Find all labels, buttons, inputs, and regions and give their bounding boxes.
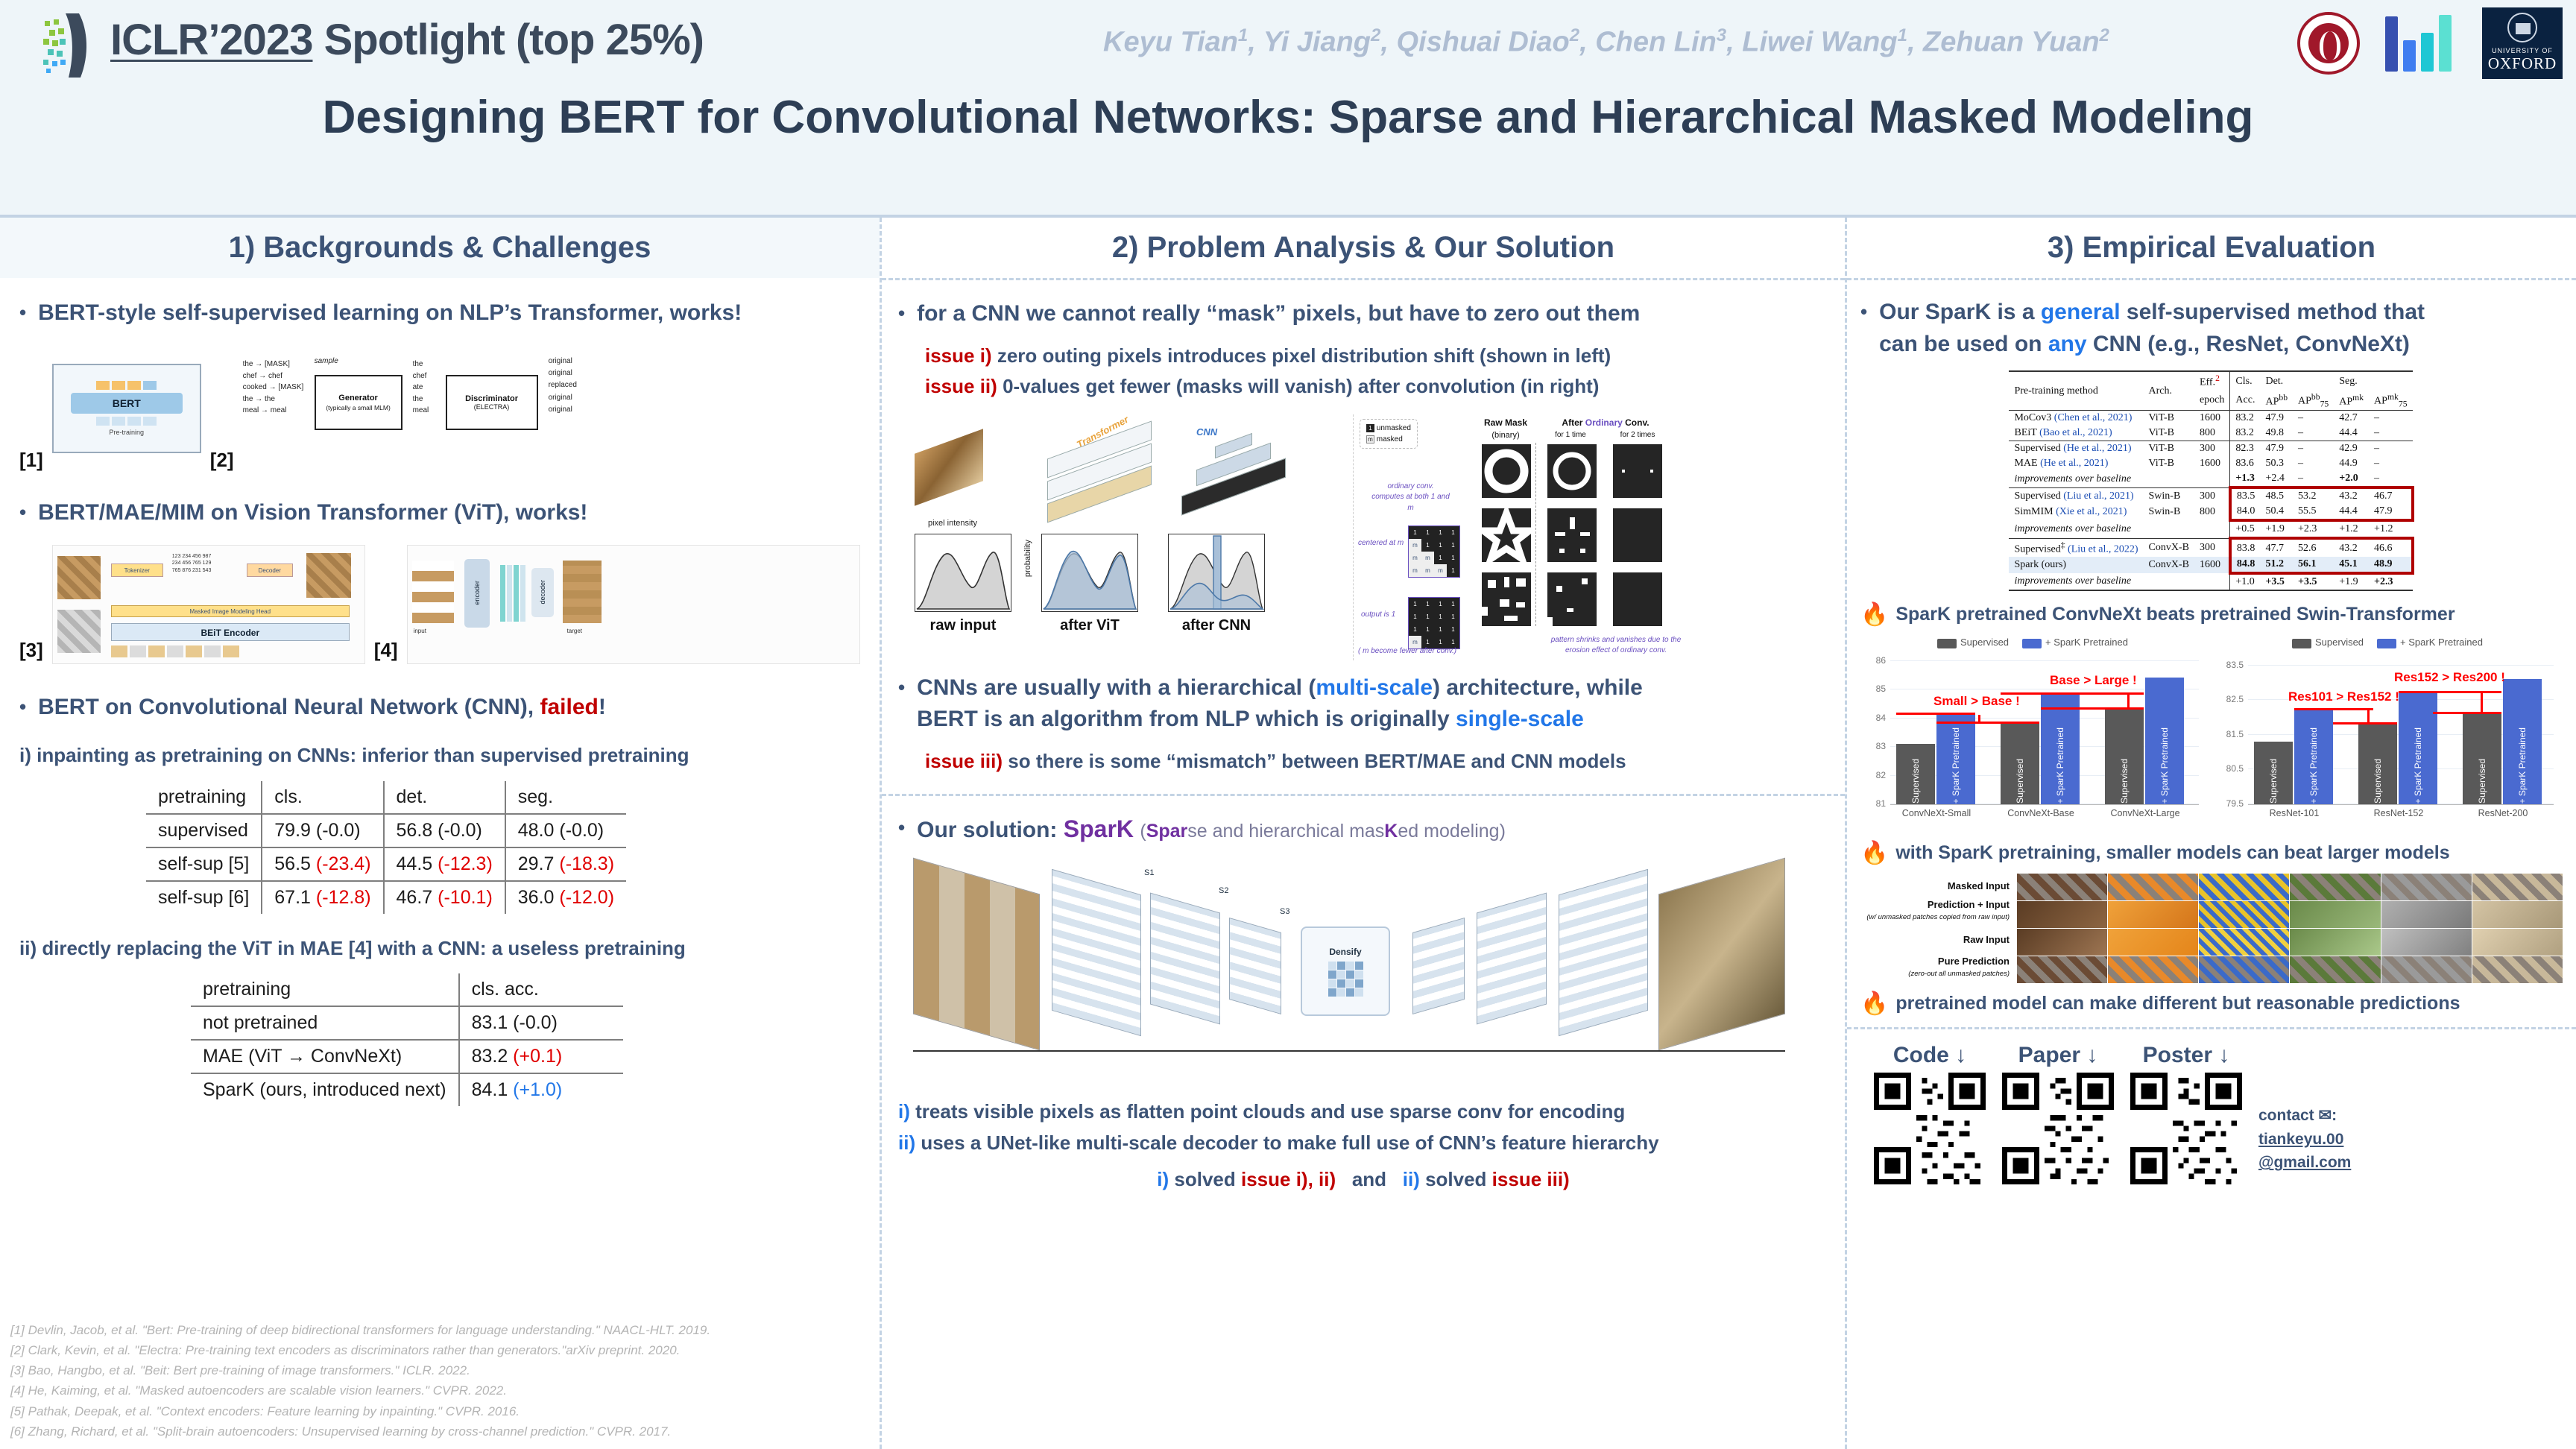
bullet-hierarchical: • CNNs are usually with a hierarchical (… (898, 672, 1828, 736)
cell-epoch: 300 (2194, 441, 2230, 457)
mask-raw-star (1482, 508, 1531, 562)
raw-image-thumb (915, 429, 983, 505)
bullet-cannot-mask-text: for a CNN we cannot really “mask” pixels… (917, 298, 1640, 330)
note-output-is: output is 1 (1361, 610, 1395, 620)
conclusion-ii-text: uses a UNet-like multi-scale decoder to … (921, 1131, 1658, 1154)
th-pretraining: pretraining (146, 781, 262, 814)
cell-cls: +1.0 (2230, 573, 2261, 590)
legend-item-supervised: Supervised (1937, 637, 2009, 648)
poster-root: ICLR’2023 Spotlight (top 25%) Keyu Tian1… (0, 0, 2576, 1449)
bar-convnext-large-supervised: Supervised (2105, 710, 2144, 804)
cell-arch: Swin-B (2144, 504, 2194, 520)
cell-apmk75: 47.9 (2369, 504, 2412, 520)
affiliation-logos: UNIVERSITY OF OXFORD (2297, 4, 2563, 82)
conclusion-ii: ii) uses a UNet-like multi-scale decoder… (898, 1128, 1828, 1159)
table-row: MAE (He et al., 2021) ViT-B 1600 83.6 50… (2009, 456, 2412, 471)
bullet-dot-icon: • (19, 692, 26, 724)
cell-apbb75: – (2293, 441, 2334, 457)
bar-convnext-base-spark: + SparK Pretrained (2041, 695, 2080, 804)
cell-method: SimMIM (Xie et al., 2021) (2009, 504, 2143, 520)
oxford-logo-small-text: UNIVERSITY OF (2492, 47, 2553, 54)
row-label-masked-input: Masked Input (1860, 874, 2010, 899)
bullet-spark-general-text: Our SparK is a general self-supervised m… (1879, 297, 2425, 360)
cell-apbb: 47.7 (2260, 538, 2293, 557)
qr-poster-block: Poster ↓ (2130, 1043, 2242, 1184)
th-apmk: APmk (2334, 391, 2369, 411)
th-apbb: APbb (2260, 391, 2293, 411)
decoder-stage-1 (1559, 869, 1648, 1036)
cell-apbb75: 55.5 (2293, 504, 2334, 520)
cell-apbb75: – (2293, 411, 2334, 426)
qr-paper-block: Paper ↓ (2002, 1043, 2114, 1184)
contact-block: contact ✉: tiankeyu.00 @gmail.com (2258, 1043, 2351, 1175)
university-of-oxford-logo-icon: UNIVERSITY OF OXFORD (2482, 7, 2563, 79)
figure-ref-3: [3] (19, 639, 43, 669)
cell-seg: 36.0 (-12.0) (505, 881, 626, 914)
oxford-logo-large-text: OXFORD (2488, 54, 2557, 73)
cell-seg: 29.7 (-18.3) (505, 847, 626, 881)
bullet-dot-icon: • (19, 297, 26, 329)
cell-apbb75: – (2293, 471, 2334, 487)
cell-epoch: 1600 (2194, 411, 2230, 426)
column-backgrounds: 1) Backgrounds & Challenges • BERT-style… (0, 218, 880, 1449)
generator-sub: (typically a small MLM) (326, 404, 390, 412)
cell-cls: 56.5 (-23.4) (262, 847, 383, 881)
mae-input-label: input (414, 628, 426, 634)
cell-cls: +1.3 (2230, 471, 2261, 487)
cell-apbb: 50.4 (2260, 504, 2293, 520)
bar-resnet200-supervised: Supervised (2463, 714, 2501, 804)
bar-convnext-small-spark: + SparK Pretrained (1936, 715, 1975, 804)
bullet-dot-icon: • (898, 812, 905, 847)
finding-2: 🔥 with SparK pretraining, smaller models… (1860, 840, 2563, 866)
bullet-bert-vit: • BERT/MAE/MIM on Vision Transformer (Vi… (19, 497, 860, 529)
solved-ii-issues: issue iii) (1492, 1168, 1570, 1190)
reference-item: [2] Clark, Kevin, et al. "Electra: Pre-t… (10, 1340, 868, 1360)
densify-block: Densify (1301, 926, 1390, 1016)
cell-method: Supervised (He et al., 2021) (2009, 441, 2143, 457)
chart-2-xtick-3: ResNet-200 (2451, 808, 2555, 818)
th-cls: Cls. (2230, 371, 2261, 391)
reference-item: [5] Pathak, Deepak, et al. "Context enco… (10, 1401, 868, 1421)
mae-encoder-label: encoder (473, 581, 481, 605)
th-epoch: epoch (2194, 391, 2230, 411)
bar-resnet101-supervised: Supervised (2254, 742, 2293, 804)
solved-i-issues: issue i), ii) (1241, 1168, 1336, 1190)
cell-apbb75: +3.5 (2293, 573, 2334, 590)
mae-target-label: target (567, 628, 582, 634)
figure-spark-architecture: S1 S2 S3 Densify (898, 853, 1828, 1092)
th-acc: Acc. (2230, 391, 2261, 411)
solved-summary: i) solved issue i), ii) and ii) solved i… (898, 1164, 1828, 1196)
cell-apmk: +1.9 (2334, 573, 2369, 590)
mask-conv1-ring (1547, 444, 1597, 498)
mim-head-label: Masked Image Modeling Head (111, 605, 350, 617)
cell-seg: 48.0 (-0.0) (505, 814, 626, 847)
bullet-bert-cnn-failed: • BERT on Convolutional Neural Network (… (19, 692, 860, 724)
contact-label-row: contact ✉: (2258, 1104, 2351, 1128)
chart-1-annotation-1: Small > Base ! (1933, 694, 2020, 709)
subpoint-ii: ii) directly replacing the ViT in MAE [4… (19, 933, 860, 965)
table-inpainting-results: pretraining cls. det. seg. supervised 79… (146, 781, 626, 914)
chart-1-xtick-3: ConvNeXt-Large (2093, 808, 2197, 818)
sample-label: sample (315, 357, 338, 365)
th-seg: Seg. (2334, 371, 2412, 391)
fire-icon: 🔥 (1860, 991, 1888, 1017)
encoder-stage-2 (1150, 893, 1220, 1025)
th-det: det. (384, 781, 505, 814)
cell-method: improvements over baseline (2009, 471, 2143, 487)
table-row: SimMIM (Xie et al., 2021) Swin-B 800 84.… (2009, 504, 2412, 520)
cell-apmk75: +1.2 (2369, 520, 2412, 538)
footnote-erosion: pattern shrinks and vanishes due to the … (1541, 635, 1690, 656)
cell-apmk75: 46.7 (2369, 487, 2412, 504)
table-row: SparK (ours, introduced next) 84.1 (+1.0… (191, 1073, 623, 1106)
row-label-raw-input: Raw Input (1860, 924, 2010, 956)
bullet-bert-vit-text: BERT/MAE/MIM on Vision Transformer (ViT)… (38, 497, 587, 529)
figure-beit-mae: [3] Tokenizer 123 234 456 987234 456 765… (19, 539, 860, 669)
table-row: improvements over baseline +1.3 +2.4 – +… (2009, 471, 2412, 487)
qr-code-code-icon[interactable] (1874, 1073, 1986, 1184)
mask-conv1-random (1547, 572, 1597, 626)
cell-cls: 82.3 (2230, 441, 2261, 457)
th-method: Pre-training method (2009, 371, 2143, 411)
stage-label-s2: S2 (1219, 886, 1228, 895)
section-2-heading: 2) Problem Analysis & Our Solution (882, 218, 1845, 278)
cell-cls: 83.2 (2230, 426, 2261, 441)
density-plot-vit (1041, 534, 1138, 612)
cell-det: 44.5 (-12.3) (384, 847, 505, 881)
electra-diagram: the → [MASK]chef → chefcooked → [MASK]th… (243, 353, 860, 464)
reference-list: [1] Devlin, Jacob, et al. "Bert: Pre-tra… (10, 1320, 868, 1442)
cell-epoch: 1600 (2194, 557, 2230, 573)
column-analysis: 2) Problem Analysis & Our Solution • for… (880, 218, 1845, 1449)
axis-label-probability: probability (1023, 540, 1032, 577)
qr-label-paper: Paper ↓ (2002, 1043, 2114, 1068)
chart-1-legend: Supervised + SparK Pretrained (1860, 637, 2205, 648)
issue-ii-line: issue ii) 0-values get fewer (masks will… (898, 371, 1828, 402)
cell-apmk75: 46.6 (2369, 538, 2412, 557)
table-row: supervised 79.9 (-0.0) 56.8 (-0.0) 48.0 … (146, 814, 626, 847)
mask-conv2-ring (1613, 444, 1662, 498)
figure-ref-4: [4] (374, 639, 398, 669)
encoder-stage-1 (1052, 869, 1141, 1036)
cell-cls: 84.0 (2230, 504, 2261, 520)
cell-apbb: 50.3 (2260, 456, 2293, 471)
venue-name: ICLR’2023 (110, 16, 312, 64)
section-3-heading: 3) Empirical Evaluation (1847, 218, 2576, 278)
fire-icon: 🔥 (1860, 840, 1888, 866)
chart-2-annotation-2: Res152 > Res200 ! (2394, 670, 2505, 685)
mask-legend: 1 unmasked m masked (1360, 419, 1418, 449)
note-centered-at: centered at m (1358, 538, 1404, 549)
finding-3-text: pretrained model can make different but … (1895, 993, 2460, 1014)
cell-method: MAE (ViT → ConvNeXt) (191, 1040, 459, 1073)
th-apbb75: APbb75 (2293, 391, 2334, 411)
table-row: BEiT (Bao et al., 2021) ViT-B 800 83.2 4… (2009, 426, 2412, 441)
cell-apbb: 49.8 (2260, 426, 2293, 441)
cell-arch: ConvX-B (2144, 538, 2194, 557)
stage-label-s3: S3 (1280, 907, 1289, 916)
bar-convnext-small-supervised: Supervised (1896, 744, 1935, 804)
peking-university-logo-icon (2297, 12, 2360, 75)
cell-cls: 83.8 (2230, 538, 2261, 557)
finding-1-text: SparK pretrained ConvNeXt beats pretrain… (1895, 604, 2455, 625)
figure-bert-electra: [1] BERT Pre-training [2] (19, 340, 860, 478)
beit-diagram: Tokenizer 123 234 456 987234 456 765 129… (52, 545, 365, 664)
cell-arch: Swin-B (2144, 487, 2194, 504)
bullet-cannot-mask: • for a CNN we cannot really “mask” pixe… (898, 298, 1828, 330)
chart-resnet-accuracy: Supervised + SparK Pretrained 83.5 82.5 … (2215, 637, 2560, 834)
chart-1-xtick-2: ConvNeXt-Base (1989, 808, 2093, 818)
cell-method: supervised (146, 814, 262, 847)
table-row: improvements over baseline +0.5 +1.9 +2.… (2009, 520, 2412, 538)
cell-apbb75: 52.6 (2293, 538, 2334, 557)
mask-conv2-random (1613, 572, 1662, 626)
bullet-bert-cnn-failed-text: BERT on Convolutional Neural Network (CN… (38, 692, 606, 724)
conclusion-i: i) treats visible pixels as flatten poin… (898, 1096, 1828, 1128)
cell-arch: ViT-B (2144, 441, 2194, 457)
bullet-hierarchical-text: CNNs are usually with a hierarchical (mu… (917, 672, 1643, 736)
cnn-label: CNN (1196, 426, 1217, 438)
reference-item: [6] Zhang, Richard, et al. "Split-brain … (10, 1421, 868, 1442)
cell-apmk75: – (2369, 471, 2412, 487)
bert-diagram-caption: Pre-training (110, 429, 145, 436)
caption-raw-input: raw input (915, 617, 1011, 634)
qr-code-poster-icon[interactable] (2130, 1073, 2242, 1184)
column-evaluation: 3) Empirical Evaluation • Our SparK is a… (1845, 218, 2576, 1449)
cell-cls: 84.8 (2230, 557, 2261, 573)
legend-item-spark: + SparK Pretrained (2377, 637, 2483, 648)
cell-apbb75: 53.2 (2293, 487, 2334, 504)
cell-arch: ViT-B (2144, 456, 2194, 471)
figure-distribution-and-erosion: Transformer CNN pixel intensity probabil… (898, 414, 1828, 660)
iclr-logo-icon (36, 10, 101, 79)
prediction-row-labels: Masked Input Prediction + Input (w/ unma… (1860, 874, 2010, 983)
issue-iii-tag: issue iii) (925, 750, 1003, 772)
col-title-after-conv: After Ordinary Conv. (1546, 417, 1665, 428)
cell-method: SparK (ours, introduced next) (191, 1073, 459, 1106)
table-header-row: pretraining cls. acc. (191, 973, 623, 1006)
paper-title: Designing BERT for Convolutional Network… (0, 91, 2576, 144)
cell-method: MoCov3 (Chen et al., 2021) (2009, 411, 2143, 426)
conclusion-i-tag: i) (898, 1100, 910, 1123)
th-pretraining: pretraining (191, 973, 459, 1006)
fire-icon: 🔥 (1860, 602, 1888, 628)
issue-i-line: issue i) zero outing pixels introduces p… (898, 341, 1828, 372)
figure-ref-2: [2] (210, 449, 234, 478)
cell-apbb: +2.4 (2260, 471, 2293, 487)
issue-i-text: zero outing pixels introduces pixel dist… (997, 344, 1611, 367)
cell-cls: +0.5 (2230, 520, 2261, 538)
table-main-results: Pre-training method Arch. Eff.2 Cls. Det… (2009, 370, 2414, 591)
cell-method: Spark (ours) (2009, 557, 2143, 573)
cell-apmk: 43.2 (2334, 538, 2369, 557)
cell-epoch: 300 (2194, 538, 2230, 557)
mask-conv1-star (1547, 508, 1597, 562)
generator-label: Generator (338, 393, 378, 403)
figure-pixel-distribution: Transformer CNN pixel intensity probabil… (898, 414, 1345, 660)
solved-ii-tag: ii) (1403, 1168, 1420, 1190)
col-title-raw-mask: Raw Mask (1482, 417, 1529, 428)
issue-iii-text: so there is some “mismatch” between BERT… (1008, 750, 1626, 772)
bert-pretraining-diagram: BERT Pre-training (52, 364, 201, 453)
prediction-image-grid (2017, 874, 2563, 983)
bytedance-logo-icon (2385, 15, 2457, 72)
poster-header: ICLR’2023 Spotlight (top 25%) Keyu Tian1… (0, 0, 2576, 218)
legend-item-spark: + SparK Pretrained (2022, 637, 2128, 648)
cell-method: Supervised‡ (Liu et al., 2022) (2009, 538, 2143, 557)
links-section: Code ↓ (1847, 1029, 2576, 1184)
cell-apmk75: +2.3 (2369, 573, 2412, 590)
footnote-masks-fewer: ( m become fewer after conv.) (1358, 647, 1456, 655)
bullet-dot-icon: • (1860, 297, 1867, 360)
cell-apbb75: – (2293, 456, 2334, 471)
finding-2-text: with SparK pretraining, smaller models c… (1895, 842, 2449, 864)
reconstructed-output (1658, 858, 1785, 1051)
cell-apbb75: – (2293, 426, 2334, 441)
stage-label-s1: S1 (1144, 868, 1154, 877)
cell-apmk75: – (2369, 411, 2412, 426)
discriminator-sub: (ELECTRA) (474, 403, 510, 411)
reference-item: [1] Devlin, Jacob, et al. "Bert: Pre-tra… (10, 1320, 868, 1340)
charts-row: Supervised + SparK Pretrained 86 85 84 8… (1860, 637, 2563, 834)
cell-apbb75: 56.1 (2293, 557, 2334, 573)
chart-2-legend: Supervised + SparK Pretrained (2215, 637, 2560, 648)
cell-apmk: 45.1 (2334, 557, 2369, 573)
cell-epoch: 300 (2194, 487, 2230, 504)
legend-masked: masked (1377, 435, 1403, 443)
cell-cls: 83.6 (2230, 456, 2261, 471)
table-row: not pretrained 83.1 (-0.0) (191, 1006, 623, 1040)
mask-raw-ring (1482, 444, 1531, 498)
density-plot-cnn (1168, 534, 1265, 612)
qr-code-block: Code ↓ (1874, 1043, 1986, 1184)
cell-apbb: 51.2 (2260, 557, 2293, 573)
cell-method: improvements over baseline (2009, 573, 2143, 590)
chart-1-plot: 86 85 84 83 82 81 Supervised + SparK Pre… (1890, 656, 2199, 805)
col-sub-binary: (binary) (1482, 431, 1529, 440)
figure-ref-1: [1] (19, 449, 43, 478)
table-row: MAE (ViT → ConvNeXt) 83.2 (+0.1) (191, 1040, 623, 1073)
bar-resnet152-supervised: Supervised (2358, 724, 2397, 804)
cell-method: MAE (He et al., 2021) (2009, 456, 2143, 471)
th-seg: seg. (505, 781, 626, 814)
contact-email[interactable]: tiankeyu.00 @gmail.com (2258, 1128, 2351, 1175)
bullet-bert-nlp: • BERT-style self-supervised learning on… (19, 297, 860, 329)
th-det: Det. (2260, 371, 2334, 391)
cell-apmk: 43.2 (2334, 487, 2369, 504)
cell-cls: 83.2 (2230, 411, 2261, 426)
cell-apbb: +1.9 (2260, 520, 2293, 538)
cell-cls: 67.1 (-12.8) (262, 881, 383, 914)
contact-email-part-1[interactable]: tiankeyu.00 (2258, 1131, 2343, 1148)
cell-apmk: 44.4 (2334, 504, 2369, 520)
solved-i-tag: i) (1157, 1168, 1169, 1190)
finding-1: 🔥 SparK pretrained ConvNeXt beats pretra… (1860, 602, 2563, 628)
legend-unmasked: unmasked (1377, 424, 1411, 432)
reference-item: [3] Bao, Hangbo, et al. "Beit: Bert pre-… (10, 1360, 868, 1380)
cell-arch: ConvX-B (2144, 557, 2194, 573)
cell-apmk75: – (2369, 456, 2412, 471)
venue-suffix: Spotlight (top 25%) (312, 16, 704, 64)
cell-apmk: +2.0 (2334, 471, 2369, 487)
issue-ii-tag: issue ii) (925, 375, 997, 397)
bullet-dot-icon: • (19, 497, 26, 529)
qr-code-paper-icon[interactable] (2002, 1073, 2114, 1184)
cell-apmk75: – (2369, 441, 2412, 457)
note-ordinary-conv: ordinary conv. computes at both 1 and m (1371, 482, 1450, 514)
table-row: self-sup [6] 67.1 (-12.8) 46.7 (-10.1) 3… (146, 881, 626, 914)
mae-diagram: input encoder decoder target (407, 545, 860, 664)
bullet-our-solution-text: Our solution: SparK (Sparse and hierarch… (917, 812, 1506, 847)
cell-arch: ViT-B (2144, 411, 2194, 426)
table-header-row: pretraining cls. det. seg. (146, 781, 626, 814)
bullet-spark-general: • Our SparK is a general self-supervised… (1860, 297, 2563, 360)
cell-apmk: 42.9 (2334, 441, 2369, 457)
densify-label: Densify (1329, 947, 1361, 957)
table-row: MoCov3 (Chen et al., 2021) ViT-B 1600 83… (2009, 411, 2412, 426)
cell-apmk: 44.4 (2334, 426, 2369, 441)
reference-item: [4] He, Kaiming, et al. "Masked autoenco… (10, 1380, 868, 1401)
mae-decoder-label: decoder (539, 580, 546, 604)
mask-raw-random (1482, 572, 1531, 626)
caption-after-cnn: after CNN (1168, 617, 1265, 634)
solved-i-mid: solved (1169, 1168, 1241, 1190)
bullet-bert-nlp-text: BERT-style self-supervised learning on N… (38, 297, 742, 329)
cell-apmk: 42.7 (2334, 411, 2369, 426)
bullet-our-solution: • Our solution: SparK (Sparse and hierar… (898, 812, 1828, 847)
chart-2-plot: 83.5 82.5 81.5 80.5 79.5 Supervised + Sp… (2248, 656, 2554, 805)
th-cls-acc: cls. acc. (459, 973, 623, 1006)
venue-title: ICLR’2023 Spotlight (top 25%) (110, 15, 704, 65)
chart-2-xtick-1: ResNet-101 (2242, 808, 2346, 818)
cell-det: 46.7 (-10.1) (384, 881, 505, 914)
decoder-stage-3 (1412, 918, 1465, 1014)
bullet-dot-icon: • (898, 672, 905, 736)
cell-apbb75: +2.3 (2293, 520, 2334, 538)
table-mae-cnn-results: pretraining cls. acc. not pretrained 83.… (191, 973, 623, 1106)
envelope-icon: ✉ (2319, 1107, 2332, 1124)
cell-value: 84.1 (+1.0) (459, 1073, 623, 1106)
qr-label-poster: Poster ↓ (2130, 1043, 2242, 1068)
row-label-prediction-input: Prediction + Input (w/ unmasked patches … (1860, 899, 2010, 924)
cell-arch: ViT-B (2144, 426, 2194, 441)
table-row-spark-ours: Spark (ours) ConvX-B 1600 84.8 51.2 56.1… (2009, 557, 2412, 573)
cell-method: self-sup [6] (146, 881, 262, 914)
decoder-stage-2 (1477, 893, 1547, 1025)
contact-email-part-2[interactable]: @gmail.com (2258, 1154, 2351, 1171)
cell-method: BEiT (Bao et al., 2021) (2009, 426, 2143, 441)
figure-predictions: Masked Input Prediction + Input (w/ unma… (1860, 874, 2563, 983)
axis-label-pixel-intensity: pixel intensity (928, 519, 977, 528)
th-cls: cls. (262, 781, 383, 814)
cell-epoch: 800 (2194, 426, 2230, 441)
cell-epoch: 1600 (2194, 456, 2230, 471)
table-row: self-sup [5] 56.5 (-23.4) 44.5 (-12.3) 2… (146, 847, 626, 881)
table-header-row: Pre-training method Arch. Eff.2 Cls. Det… (2009, 371, 2412, 391)
chart-2-xtick-2: ResNet-152 (2346, 808, 2451, 818)
beit-encoder-label: BEiT Encoder (111, 623, 350, 641)
discriminator-label: Discriminator (465, 394, 518, 403)
finding-3: 🔥 pretrained model can make different bu… (1860, 991, 2563, 1017)
bullet-dot-icon: • (898, 298, 905, 330)
th-arch: Arch. (2144, 371, 2194, 411)
table-row: improvements over baseline +1.0 +3.5 +3.… (2009, 573, 2412, 590)
cell-det: 56.8 (-0.0) (384, 814, 505, 847)
bar-convnext-base-supervised: Supervised (2001, 724, 2039, 804)
encoder-stage-3 (1229, 918, 1281, 1014)
